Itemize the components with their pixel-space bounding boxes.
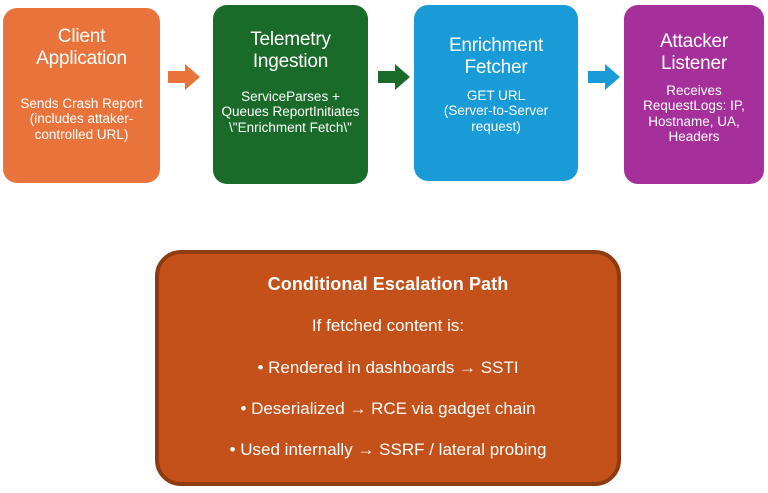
flow-node-title: Enrichment Fetcher	[422, 35, 570, 79]
flow-node-subtitle: ServiceParses + Queues ReportInitiates \…	[221, 89, 360, 135]
arrow-enrichment-to-attacker-icon	[587, 62, 621, 92]
flow-node-title: Attacker Listener	[632, 31, 756, 75]
conditional-escalation-panel[interactable]: Conditional Escalation Path If fetched c…	[155, 250, 621, 486]
arrow-client-to-telemetry-icon	[167, 62, 201, 92]
arrow-telemetry-to-enrichment-icon	[377, 62, 411, 92]
escalation-item: • Rendered in dashboards → SSTI	[257, 358, 518, 378]
flow-node-telemetry-ingestion[interactable]: Telemetry Ingestion ServiceParses + Queu…	[213, 5, 368, 184]
flow-node-client-application[interactable]: Client Application Sends Crash Report (i…	[3, 8, 160, 183]
escalation-item: • Used internally → SSRF / lateral probi…	[230, 440, 547, 460]
flow-node-subtitle: Receives RequestLogs: IP, Hostname, UA, …	[632, 83, 756, 145]
escalation-item: • Deserialized → RCE via gadget chain	[240, 399, 535, 419]
flow-node-attacker-listener[interactable]: Attacker Listener Receives RequestLogs: …	[624, 5, 764, 184]
escalation-lead-text: If fetched content is:	[312, 316, 464, 336]
flow-node-subtitle: GET URL (Server-to-Server request)	[422, 88, 570, 134]
flow-node-title: Telemetry Ingestion	[221, 29, 360, 73]
flow-node-subtitle: Sends Crash Report (includes attaker-con…	[11, 96, 152, 142]
flow-node-enrichment-fetcher[interactable]: Enrichment Fetcher GET URL (Server-to-Se…	[414, 5, 578, 181]
diagram-canvas: Client Application Sends Crash Report (i…	[0, 0, 768, 493]
escalation-title: Conditional Escalation Path	[268, 274, 509, 295]
flow-node-title: Client Application	[11, 26, 152, 70]
